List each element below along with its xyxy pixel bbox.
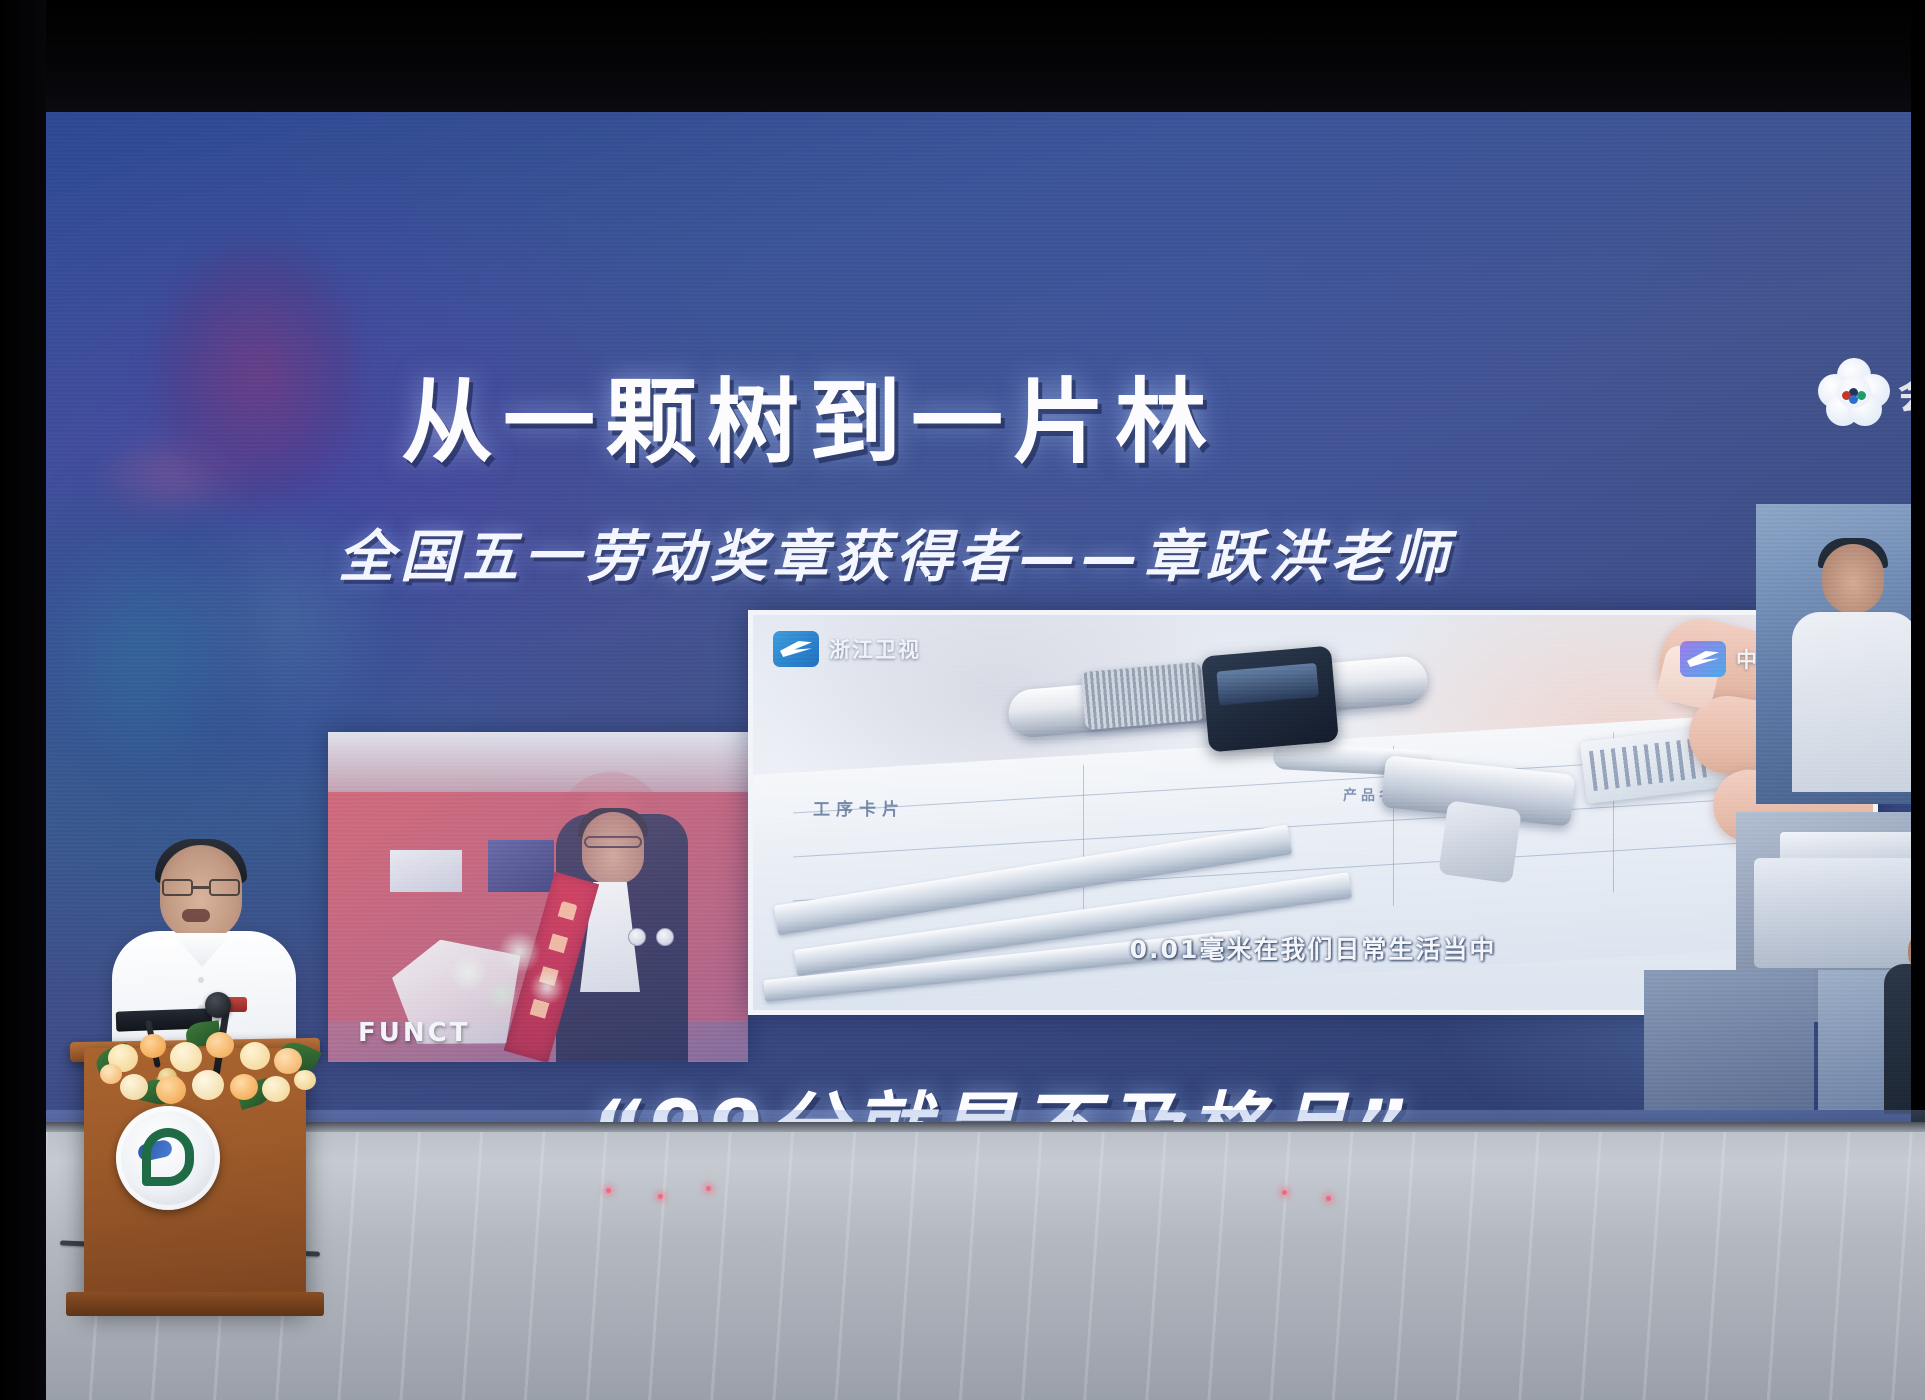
page-title: 从一颗树到一片林 — [401, 348, 1601, 481]
background-ghost-portrait-secondary — [46, 412, 360, 882]
plum-blossom-emblem-icon — [1818, 358, 1890, 426]
podium-base — [66, 1292, 324, 1316]
auditorium-left-wall — [0, 0, 46, 1400]
auditorium-ceiling — [0, 0, 1925, 112]
zhejiang-tv-icon — [773, 631, 819, 667]
news-video-panel: 工序卡片 产品名称 产品型号 浙江卫视 中国蓝新闻 — [748, 610, 1878, 1015]
micrometer-thimble — [1081, 662, 1206, 730]
worksheet-header-left: 工序卡片 — [813, 795, 905, 820]
side-photo-portrait — [1756, 504, 1911, 804]
china-blue-news-icon — [1680, 641, 1726, 677]
award-ceremony-photo: FUNCT — [328, 732, 748, 1062]
led-backdrop-screen: 会 从一颗树到一片林 全国五一劳动奖章获得者——章跃洪老师 FUNCT — [46, 112, 1911, 1122]
video-subtitle-caption: 0.01毫米在我们日常生活当中 — [753, 930, 1873, 966]
flower-arrangement — [90, 1018, 320, 1110]
page-subtitle: 全国五一劳动奖章获得者——章跃洪老师 — [338, 512, 1758, 593]
stage-floor — [46, 1122, 1925, 1400]
side-photo-person — [1884, 964, 1911, 1114]
conference-logo-text: 会 — [1898, 362, 1911, 420]
zhejiang-tv-watermark: 浙江卫视 — [773, 631, 921, 667]
micrometer-frame — [1438, 800, 1522, 884]
micrometer-display — [1201, 646, 1339, 753]
eyeglasses-icon — [162, 879, 240, 896]
award-photo-overlay-text: FUNCT — [358, 1018, 470, 1048]
zhejiang-tv-label: 浙江卫视 — [829, 634, 921, 664]
microphone-head-icon — [205, 992, 231, 1018]
side-photo-workshop-1 — [1644, 970, 1814, 1110]
stage-scene: 会 从一颗树到一片林 全国五一劳动奖章获得者——章跃洪老师 FUNCT — [0, 0, 1925, 1400]
institution-emblem-icon — [116, 1106, 220, 1210]
